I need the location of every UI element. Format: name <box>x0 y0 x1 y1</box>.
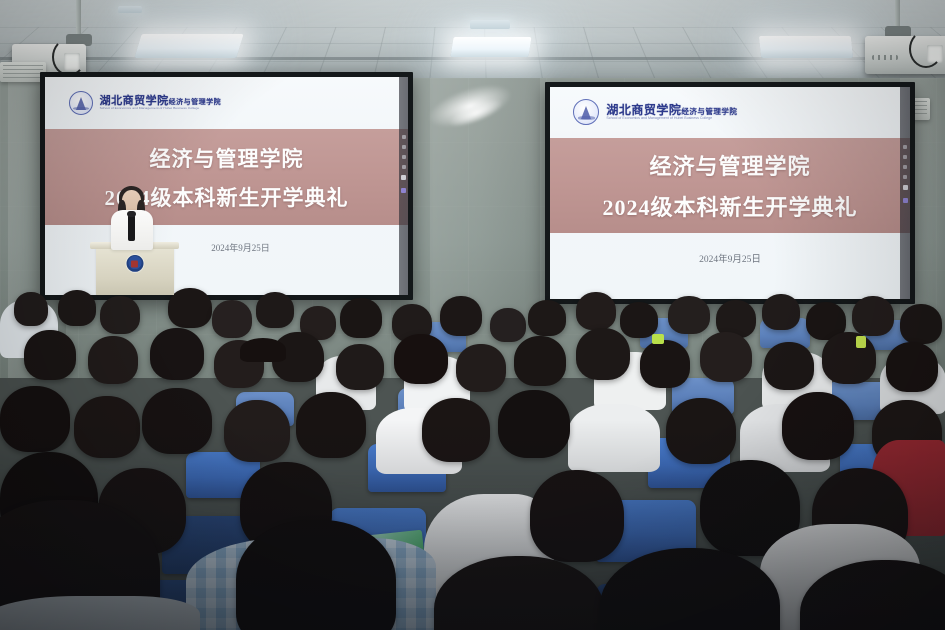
attendee-torso <box>760 524 920 630</box>
slide-title-line-1: 经济与管理学院 <box>150 143 304 173</box>
chair-back <box>672 378 734 414</box>
left-projection-screen[interactable]: 湖北商贸学院经济与管理学院 School of Economics and Ma… <box>40 72 413 300</box>
attendee-head <box>0 386 70 452</box>
attendee-head <box>240 462 332 552</box>
chair-back <box>186 452 260 498</box>
attendee-head <box>872 400 942 466</box>
chair-back <box>596 500 696 562</box>
attendee-head <box>142 388 212 454</box>
college-logo-icon <box>69 91 93 115</box>
chair-back <box>398 388 458 424</box>
attendee-head <box>812 468 908 562</box>
zoom-icon[interactable] <box>402 165 406 169</box>
attendee-torso <box>186 538 436 630</box>
right-screen-surface: 湖北商贸学院经济与管理学院 School of Economics and Ma… <box>550 87 910 299</box>
attendee-torso <box>872 440 945 536</box>
logo-cn-main: 湖北商贸学院 <box>606 103 681 117</box>
fluorescent-light-2 <box>450 37 531 57</box>
chair-back <box>648 438 730 488</box>
slide-grid-icon[interactable] <box>402 155 406 159</box>
presenter-at-podium <box>103 186 163 294</box>
attendee-head <box>236 520 396 630</box>
pen-icon[interactable] <box>402 135 406 139</box>
projector-pole <box>76 0 81 34</box>
right-projection-screen[interactable]: 湖北商贸学院经济与管理学院 School of Economics and Ma… <box>545 82 915 304</box>
zoom-icon[interactable] <box>903 175 907 179</box>
ceiling-light-reflection <box>470 20 510 29</box>
left-screen-surface: 湖北商贸学院经济与管理学院 School of Economics and Ma… <box>45 77 408 295</box>
chair-back <box>840 444 926 496</box>
logo-chinese-name: 湖北商贸学院经济与管理学院 <box>606 104 737 117</box>
logo-text-block: 湖北商贸学院经济与管理学院 School of Economics and Ma… <box>606 104 737 120</box>
fluorescent-light-3 <box>759 36 853 58</box>
slide-header: 湖北商贸学院经济与管理学院 School of Economics and Ma… <box>550 87 910 138</box>
slide-date: 2024年9月25日 <box>699 251 761 265</box>
attendee-torso <box>424 494 554 614</box>
logo-text-block: 湖北商贸学院经济与管理学院 School of Economics and Ma… <box>100 96 222 111</box>
chair-back <box>826 382 890 420</box>
slide-title-line-2: 2024级本科新生开学典礼 <box>602 190 857 222</box>
chair-back <box>434 514 530 574</box>
college-logo-icon <box>573 99 599 125</box>
logo-english-name: School of Economics and Management of Hu… <box>100 107 222 110</box>
slide-title-band: 经济与管理学院 2024级本科新生开学典礼 <box>45 129 408 225</box>
attendee-head <box>422 398 490 462</box>
chair-back <box>596 584 736 630</box>
attendee-torso <box>0 596 200 630</box>
projector-pole <box>895 0 900 28</box>
ppt-presenter-toolbar[interactable] <box>900 87 910 299</box>
logo-cn-sub: 经济与管理学院 <box>169 98 222 106</box>
chair-back <box>330 508 426 568</box>
microphone-icon <box>128 215 135 241</box>
slide-right: 湖北商贸学院经济与管理学院 School of Economics and Ma… <box>550 87 910 299</box>
logo-english-name: School of Economics and Management of Hu… <box>606 117 737 120</box>
pointer-icon[interactable] <box>903 155 907 159</box>
slide-footer: 2024年9月25日 <box>550 233 910 299</box>
attendee-head <box>530 470 624 562</box>
pen-icon[interactable] <box>903 145 907 149</box>
projector-cable <box>909 30 943 68</box>
attendee-head <box>98 468 186 554</box>
fluorescent-light-1 <box>134 34 243 58</box>
attendee-head <box>434 556 604 630</box>
attendee-head <box>800 560 945 630</box>
scene-lowlight-gradient <box>0 420 945 630</box>
right-ceiling-projector <box>845 8 945 78</box>
attendee-head <box>700 460 800 556</box>
attendee-torso <box>740 404 830 472</box>
ppt-presenter-toolbar[interactable] <box>399 77 408 295</box>
slide-title-band: 经济与管理学院 2024级本科新生开学典礼 <box>550 138 910 233</box>
lecture-hall-photo: fluorescent-light-1 <box>0 0 945 630</box>
attendee-head <box>0 452 98 548</box>
attendee-head <box>0 500 160 630</box>
chair-back <box>368 444 446 492</box>
attendee-head <box>498 390 570 458</box>
more-options-icon[interactable] <box>401 175 406 180</box>
slide-date: 2024年9月25日 <box>211 241 270 254</box>
pointer-icon[interactable] <box>402 145 406 149</box>
slide-header: 湖北商贸学院经济与管理学院 School of Economics and Ma… <box>45 77 408 129</box>
attendee-head <box>74 396 140 458</box>
chair-back <box>86 580 216 630</box>
slide-title-line-1: 经济与管理学院 <box>649 149 810 181</box>
attendee-torso <box>376 408 462 474</box>
attendee-head <box>666 398 736 464</box>
more-options-icon[interactable] <box>903 185 908 190</box>
attendee-folder <box>343 553 423 582</box>
chair-back <box>236 392 294 426</box>
attendee-head <box>782 392 854 460</box>
attendee-head <box>296 392 366 458</box>
logo-cn-main: 湖北商贸学院 <box>100 95 169 107</box>
attendee-folder <box>338 530 426 579</box>
attendee-head <box>224 400 290 462</box>
logo-cn-sub: 经济与管理学院 <box>681 107 737 116</box>
projector-cable <box>52 38 86 76</box>
end-show-icon[interactable] <box>401 188 406 193</box>
attendee-head <box>600 548 780 630</box>
end-show-icon[interactable] <box>903 198 908 203</box>
chair-back <box>162 516 254 574</box>
slide-grid-icon[interactable] <box>903 165 907 169</box>
attendee-torso <box>568 404 660 472</box>
